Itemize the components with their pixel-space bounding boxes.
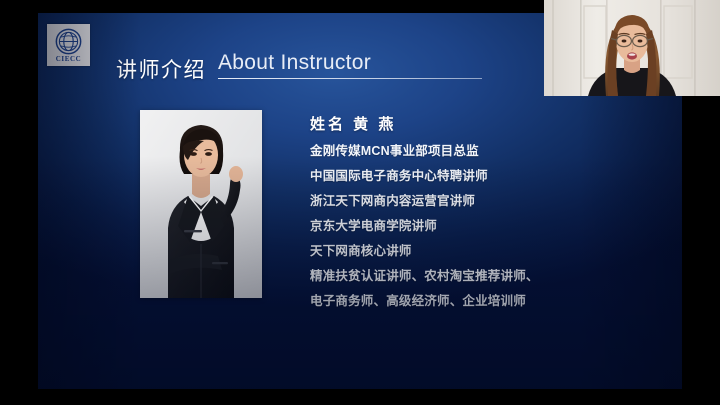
slide-title-english-wrap: About Instructor: [218, 52, 482, 81]
credential-line: 中国国际电子商务中心特聘讲师: [310, 170, 610, 183]
slide-title-chinese: 讲师介绍: [116, 60, 206, 81]
video-player-stage: CIECC 讲师介绍 About Instructor: [0, 0, 720, 405]
portrait-illustration: [140, 110, 262, 298]
title-underline: [218, 78, 482, 79]
slide-title-english: About Instructor: [218, 52, 482, 73]
credential-line: 京东大学电商学院讲师: [310, 220, 610, 233]
credential-line: 电子商务师、高级经济师、企业培训师: [310, 295, 610, 308]
slide-title: 讲师介绍 About Instructor: [116, 52, 482, 81]
credential-line: 金刚传媒MCN事业部项目总监: [310, 145, 610, 158]
credential-line: 精准扶贫认证讲师、农村淘宝推荐讲师、: [310, 270, 610, 283]
instructor-info-block: 姓名 黄 燕 金刚传媒MCN事业部项目总监 中国国际电子商务中心特聘讲师 浙江天…: [310, 117, 610, 308]
ciecc-logo-text: CIECC: [56, 56, 82, 63]
credential-line: 浙江天下网商内容运营官讲师: [310, 195, 610, 208]
ciecc-globe-icon: [55, 28, 82, 55]
credential-line: 天下网商核心讲师: [310, 245, 610, 258]
ciecc-logo-badge: CIECC: [47, 24, 90, 66]
instructor-name: 姓名 黄 燕: [310, 117, 610, 132]
presenter-video-frame: [544, 0, 720, 96]
presenter-video-feed[interactable]: [544, 0, 720, 96]
instructor-portrait-photo: [140, 110, 262, 298]
